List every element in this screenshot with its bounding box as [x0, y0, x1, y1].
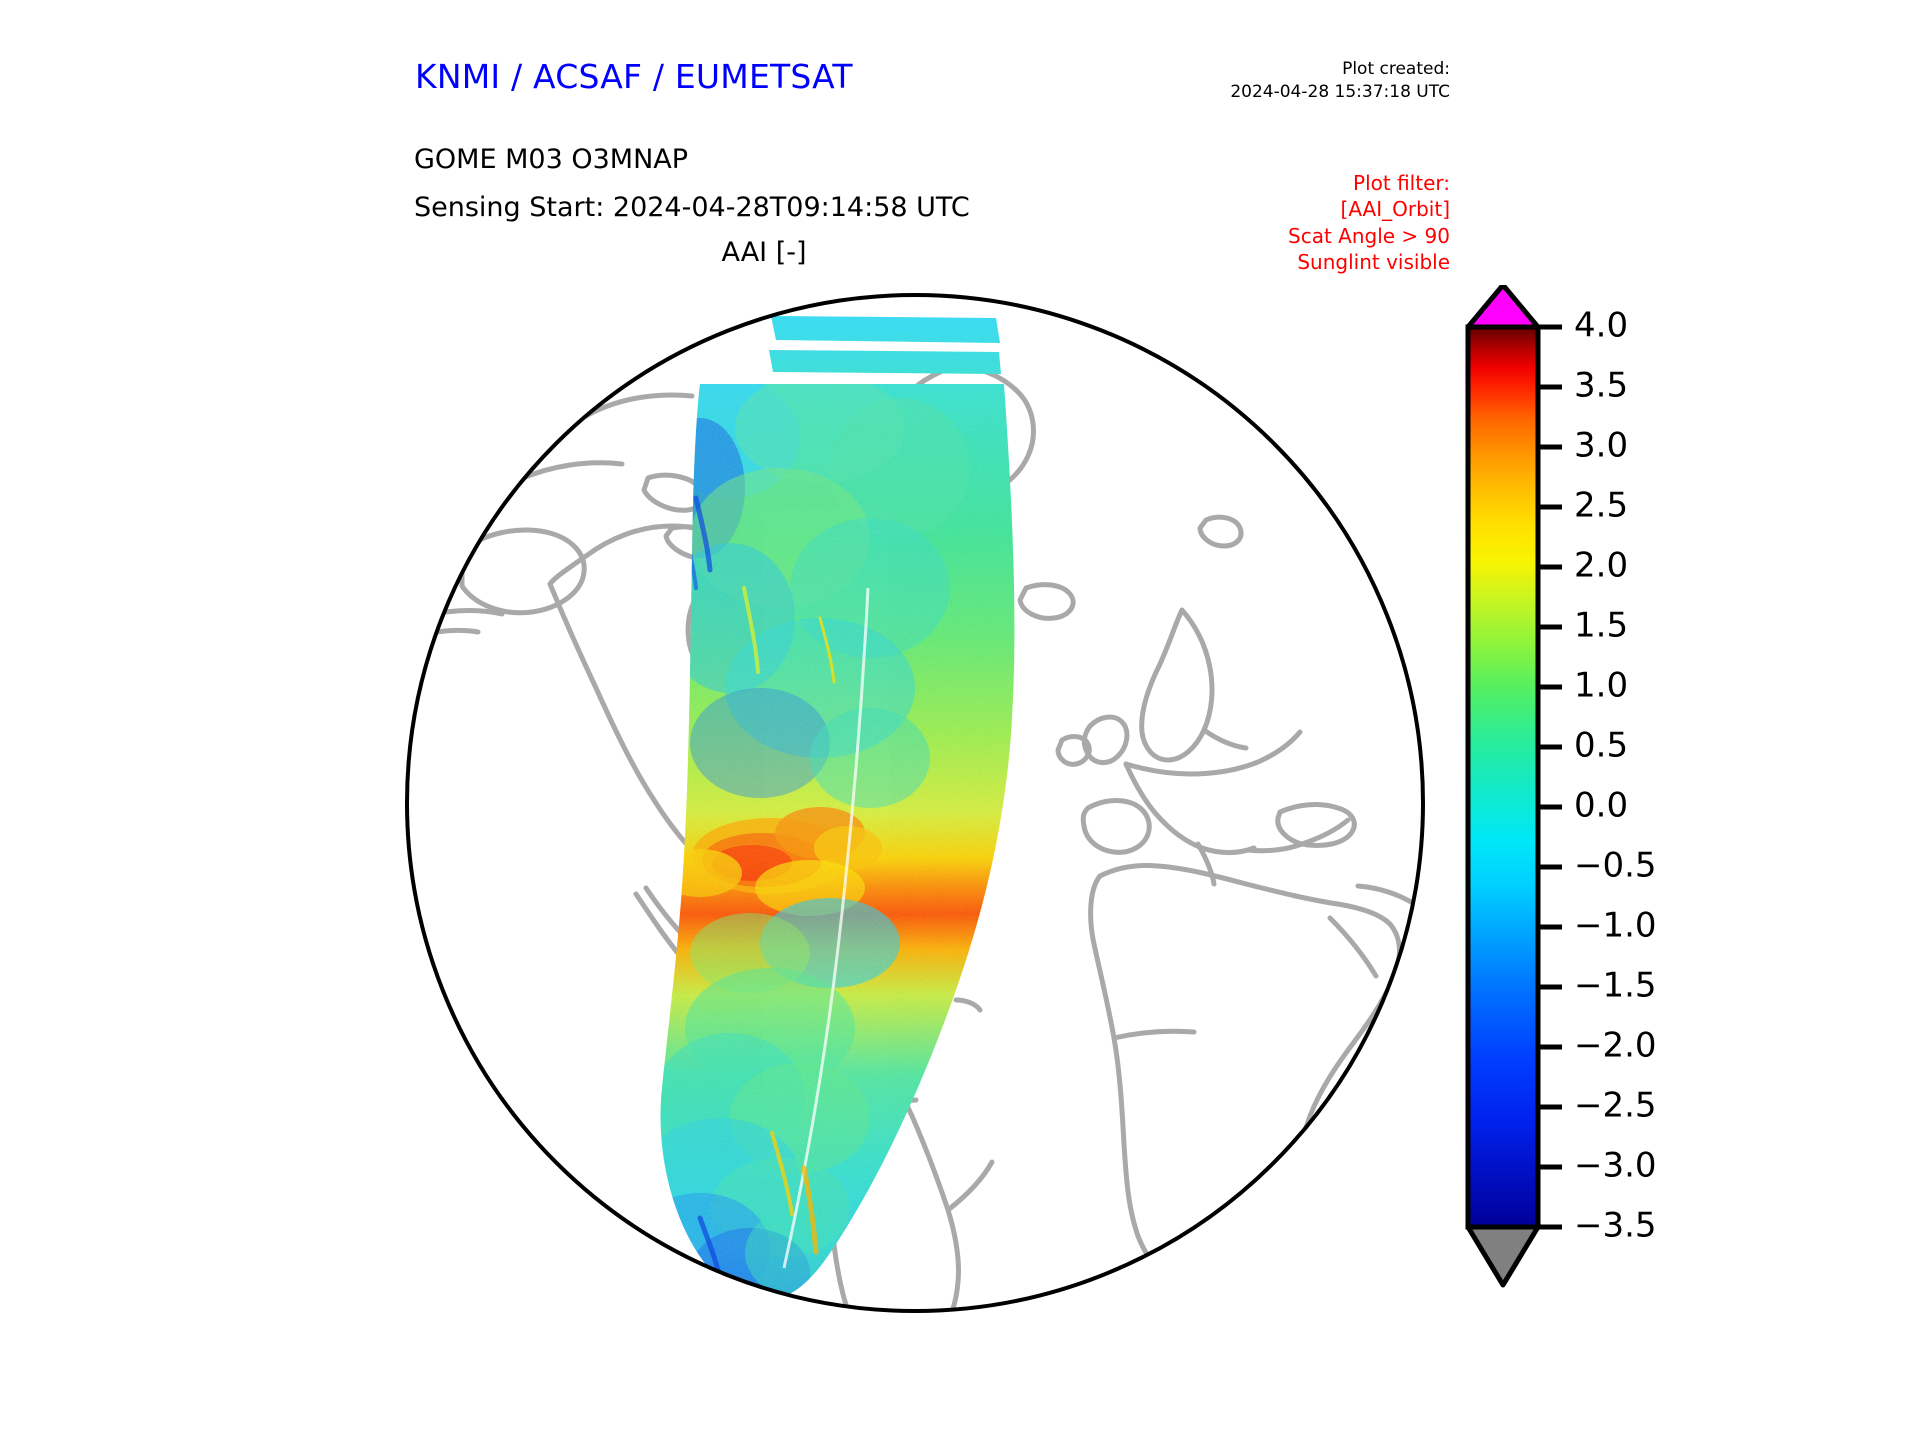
figure-canvas: KNMI / ACSAF / EUMETSAT Plot created: 20…	[0, 0, 1920, 1440]
colorbar-tick-label: 1.0	[1574, 666, 1628, 706]
plot-created-label: Plot created:	[1160, 58, 1450, 81]
plot-filter-label: Plot filter:	[1130, 170, 1450, 196]
colorbar-tick-label: 0.5	[1574, 726, 1628, 766]
quantity-title: AAI [-]	[414, 237, 1114, 268]
plot-created-value: 2024-04-28 15:37:18 UTC	[1160, 81, 1450, 104]
colorbar-tick-label: 0.0	[1574, 786, 1628, 826]
colorbar-gradient	[1468, 327, 1538, 1227]
plot-filter-name: [AAI_Orbit]	[1130, 196, 1450, 222]
dataset-title: GOME M03 O3MNAP	[414, 144, 688, 175]
colorbar-under-arrow	[1468, 1227, 1538, 1285]
plot-filter-scat-angle: Scat Angle > 90	[1130, 223, 1450, 249]
plot-filter-block: Plot filter: [AAI_Orbit] Scat Angle > 90…	[1130, 170, 1450, 276]
plot-filter-sunglint: Sunglint visible	[1130, 249, 1450, 275]
provider-title: KNMI / ACSAF / EUMETSAT	[415, 57, 853, 96]
colorbar-tick-label: 2.5	[1574, 486, 1628, 526]
colorbar-tick-label: −2.0	[1574, 1026, 1657, 1066]
colorbar-tick-label: 1.5	[1574, 606, 1628, 646]
colorbar-tick-label: −3.0	[1574, 1146, 1657, 1186]
colorbar: 4.0 3.5 3.0 2.5 2.0 1.5 1.0 0.5 0.0 −0.5…	[1448, 285, 1778, 1305]
plot-created-block: Plot created: 2024-04-28 15:37:18 UTC	[1160, 58, 1450, 104]
colorbar-tick-label: −1.0	[1574, 906, 1657, 946]
colorbar-over-arrow	[1468, 285, 1538, 327]
colorbar-tick-labels: 4.0 3.5 3.0 2.5 2.0 1.5 1.0 0.5 0.0 −0.5…	[1574, 306, 1657, 1246]
colorbar-tick-label: 4.0	[1574, 306, 1628, 346]
sensing-start-text: Sensing Start: 2024-04-28T09:14:58 UTC	[414, 192, 970, 223]
colorbar-tick-label: −0.5	[1574, 846, 1657, 886]
globe-svg	[400, 288, 1430, 1318]
colorbar-tick-label: 3.5	[1574, 366, 1628, 406]
colorbar-tick-label: 3.0	[1574, 426, 1628, 466]
colorbar-tick-label: −2.5	[1574, 1086, 1657, 1126]
colorbar-tick-label: −3.5	[1574, 1206, 1657, 1246]
colorbar-tick-label: −1.5	[1574, 966, 1657, 1006]
colorbar-tick-label: 2.0	[1574, 546, 1628, 586]
globe-map	[400, 288, 1430, 1318]
colorbar-svg: 4.0 3.5 3.0 2.5 2.0 1.5 1.0 0.5 0.0 −0.5…	[1448, 285, 1778, 1305]
colorbar-ticks	[1538, 327, 1562, 1227]
